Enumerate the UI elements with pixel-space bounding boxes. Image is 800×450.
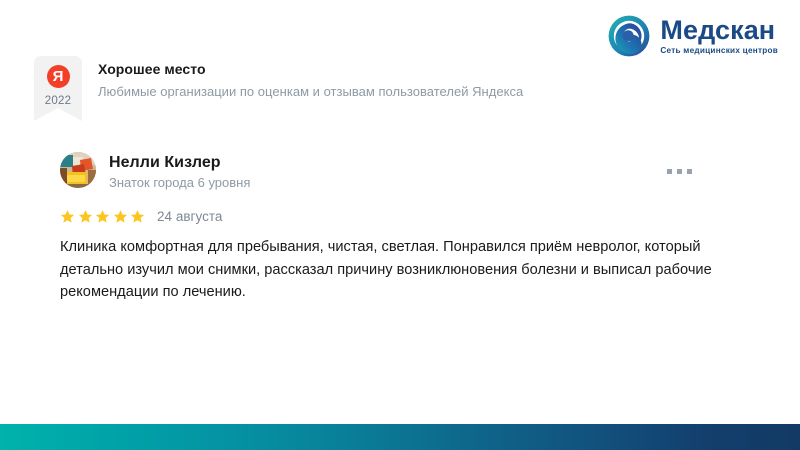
kebab-menu-icon[interactable] [667, 169, 692, 174]
medscan-spiral-circle-icon [607, 14, 651, 58]
yandex-logo-icon: Я [47, 65, 70, 88]
award-subtitle: Любимые организации по оценкам и отзывам… [98, 84, 523, 101]
brand-logo: Медскан Сеть медицинских центров [607, 14, 778, 58]
brand-tagline: Сеть медицинских центров [660, 47, 778, 55]
star-icon [113, 209, 128, 224]
brand-name: Медскан [660, 17, 775, 45]
rating-row: 24 августа [60, 209, 740, 224]
kebab-dot [687, 169, 692, 174]
star-icon [95, 209, 110, 224]
avatar [60, 152, 96, 188]
author-level: Знаток города 6 уровня [109, 175, 250, 191]
star-icon [130, 209, 145, 224]
user-avatar-photo [60, 152, 96, 188]
review-date: 24 августа [157, 209, 222, 224]
review-header: Нелли Кизлер Знаток города 6 уровня [60, 152, 740, 191]
author-block: Нелли Кизлер Знаток города 6 уровня [109, 152, 250, 191]
review-text: Клиника комфортная для пребывания, чиста… [60, 236, 736, 303]
star-icon [60, 209, 75, 224]
award-ribbon: Я 2022 [34, 56, 82, 120]
star-rating [60, 209, 145, 224]
award-text-block: Хорошее место Любимые организации по оце… [98, 56, 523, 100]
kebab-dot [667, 169, 672, 174]
footer-gradient-bar [0, 424, 800, 450]
award-year: 2022 [45, 95, 71, 107]
review-card: Нелли Кизлер Знаток города 6 уровня 24 а… [60, 152, 740, 303]
yandex-award-block: Я 2022 Хорошее место Любимые организации… [34, 56, 523, 120]
award-title: Хорошее место [98, 61, 523, 79]
author-name: Нелли Кизлер [109, 153, 250, 172]
brand-wordmark: Медскан Сеть медицинских центров [660, 17, 778, 56]
kebab-dot [677, 169, 682, 174]
star-icon [78, 209, 93, 224]
